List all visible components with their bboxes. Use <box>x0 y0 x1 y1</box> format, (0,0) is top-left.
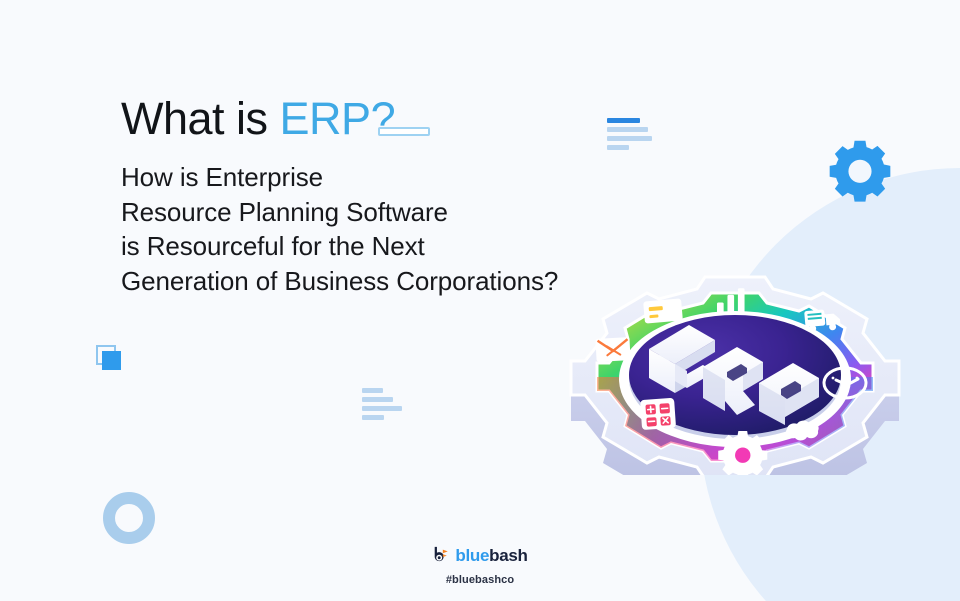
subtitle-line-2: Resource Planning Software <box>121 195 558 230</box>
subtitle-line-1: How is Enterprise <box>121 160 558 195</box>
text-lines-icon <box>607 118 652 154</box>
page-subtitle: How is Enterprise Resource Planning Soft… <box>121 160 558 298</box>
brand-lockup: bluebash <box>432 546 527 564</box>
page-title-accent: ERP? <box>280 93 396 144</box>
page-title: What is ERP? <box>121 96 395 141</box>
subtitle-line-4: Generation of Business Corporations? <box>121 264 558 299</box>
page-title-prefix: What is <box>121 93 280 144</box>
poster-canvas: What is ERP? How is Enterprise Resource … <box>0 0 960 601</box>
title-underline-bar <box>378 127 430 136</box>
gear-icon <box>826 138 894 206</box>
calculator-icon <box>640 398 676 430</box>
brand-footer: bluebash #bluebashco <box>0 546 960 586</box>
envelope-icon <box>595 337 630 362</box>
circle-outline-icon <box>103 492 155 544</box>
overlapping-squares-icon <box>96 345 128 377</box>
subtitle-line-3: is Resourceful for the Next <box>121 229 558 264</box>
brand-wordmark: bluebash <box>455 547 527 564</box>
erp-illustration <box>540 225 930 475</box>
brand-word-blue: blue <box>455 546 489 565</box>
brand-handle: #bluebashco <box>0 574 960 586</box>
bluebash-logo-icon <box>432 546 450 564</box>
text-lines-icon <box>362 388 402 424</box>
credit-card-icon <box>643 298 683 323</box>
brand-word-dark: bash <box>489 546 527 565</box>
